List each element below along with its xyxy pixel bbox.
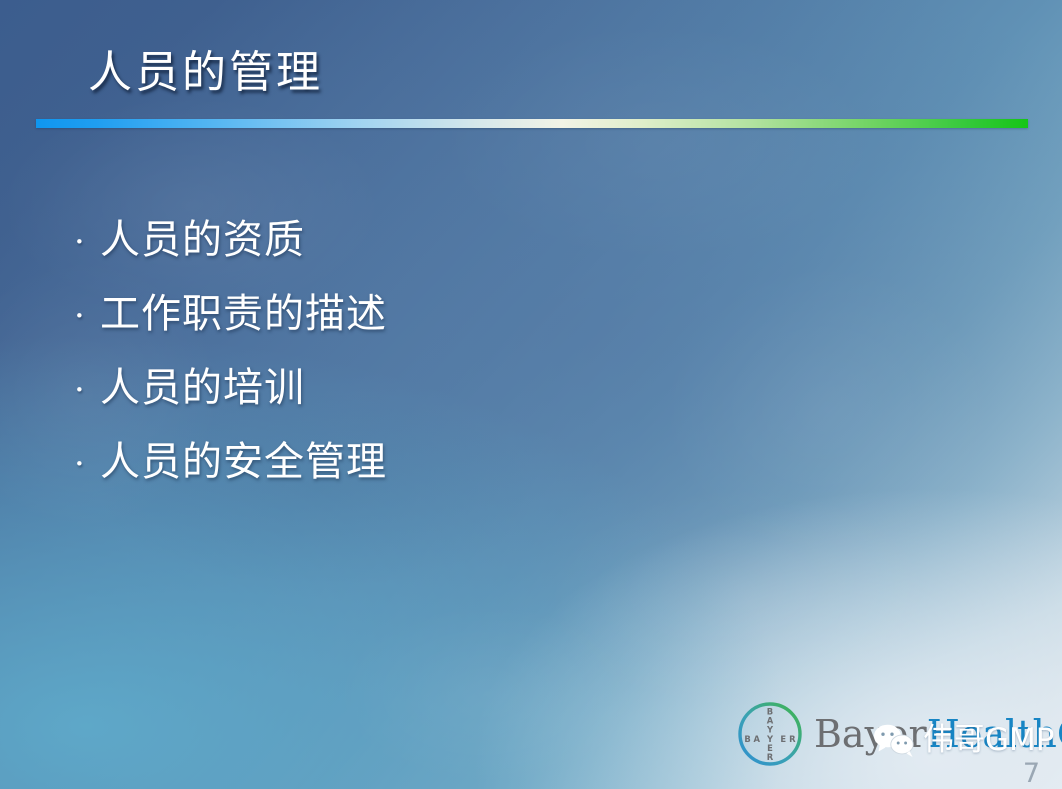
bullet-text: 工作职责的描述 (100, 292, 387, 336)
list-item: · 人员的培训 (74, 366, 387, 440)
bullet-text: 人员的培训 (100, 366, 305, 410)
svg-text:B: B (744, 734, 750, 744)
bullet-text: 人员的安全管理 (100, 440, 387, 484)
bullet-marker-icon: · (74, 373, 100, 407)
bullet-list: · 人员的资质 · 工作职责的描述 · 人员的培训 · 人员的安全管理 (74, 218, 387, 514)
list-item: · 工作职责的描述 (74, 292, 387, 366)
bullet-marker-icon: · (74, 299, 100, 333)
bullet-marker-icon: · (74, 447, 100, 481)
watermark-label: 伟哥GMP (923, 725, 1054, 756)
wechat-icon (872, 722, 918, 758)
svg-text:A: A (754, 734, 761, 744)
page-number: 7 (1023, 760, 1040, 787)
wechat-watermark: 伟哥GMP (872, 722, 1054, 758)
list-item: · 人员的安全管理 (74, 440, 387, 514)
svg-text:R: R (789, 734, 796, 744)
bayer-cross-icon: B A Y E R B A Y E R (736, 700, 804, 768)
svg-text:Y: Y (766, 734, 774, 744)
bullet-text: 人员的资质 (100, 218, 305, 262)
svg-text:E: E (780, 734, 786, 744)
svg-text:R: R (767, 752, 774, 762)
bullet-marker-icon: · (74, 225, 100, 259)
list-item: · 人员的资质 (74, 218, 387, 292)
slide-canvas: 人员的管理 · 人员的资质 · 工作职责的描述 · 人员的培训 · 人员的安全管… (0, 0, 1062, 789)
title-divider-rule (36, 119, 1028, 128)
slide-title: 人员的管理 (88, 48, 323, 97)
